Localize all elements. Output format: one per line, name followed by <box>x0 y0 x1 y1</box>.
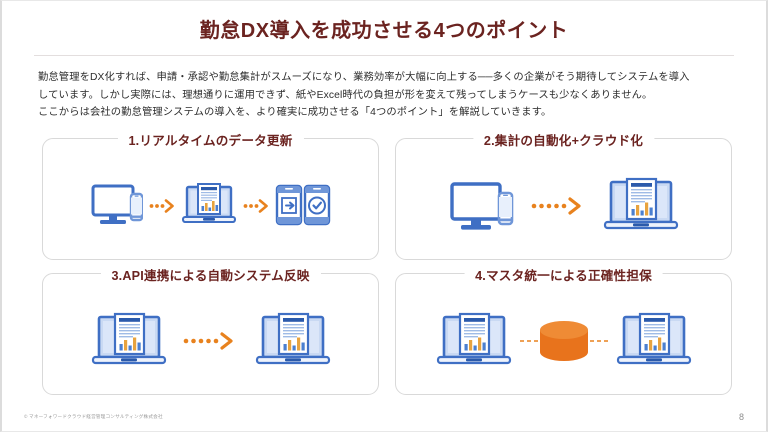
database-cylinder-icon <box>518 312 610 370</box>
title-divider <box>34 55 734 56</box>
point-card-1-title: 1.リアルタイムのデータ更新 <box>117 130 303 149</box>
point-card-1: 1.リアルタイムのデータ更新 <box>42 138 379 260</box>
smartphone-pair-icon <box>275 182 331 230</box>
point-card-2: 2.集計の自動化+クラウド化 <box>395 138 732 260</box>
smartphone-sync-icon <box>277 186 301 224</box>
point-card-4: 4.マスタ統一による正確性担保 <box>395 273 732 395</box>
smartphone-check-icon <box>305 186 329 224</box>
point-card-2-illustration <box>396 153 731 259</box>
slide-root: 勤怠DX導入を成功させる4つのポイント 勤怠管理をDX化すれば、申請・承認や勤怠… <box>0 0 768 432</box>
footer-page-number: 8 <box>739 412 744 422</box>
dotted-arrow-icon <box>149 197 175 215</box>
point-card-3-illustration <box>43 288 378 394</box>
page-title: 勤怠DX導入を成功させる4つのポイント <box>2 19 766 43</box>
lead-line-1: 勤怠管理をDX化すれば、申請・承認や勤怠集計がスムーズになり、業務効率が大幅に向… <box>38 69 730 87</box>
points-grid: 1.リアルタイムのデータ更新 <box>42 138 732 395</box>
laptop-report-icon <box>91 312 167 370</box>
dotted-arrow-long-icon <box>531 196 587 216</box>
point-card-2-title: 2.集計の自動化+クラウド化 <box>473 130 654 149</box>
laptop-report-icon <box>603 177 679 235</box>
lead-line-2: しています。しかし実際には、理想通りに運用できず、紙やExcel時代の負担が形を… <box>38 87 730 105</box>
lead-paragraph: 勤怠管理をDX化すれば、申請・承認や勤怠集計がスムーズになり、業務効率が大幅に向… <box>38 69 730 122</box>
point-card-3: 3.API連携による自動システム反映 <box>42 273 379 395</box>
point-card-4-title: 4.マスタ統一による正確性担保 <box>464 265 663 284</box>
footer-copyright: © マネーフォワードクラウド経営管理コンサルティング株式会社 <box>24 414 163 420</box>
desktop-monitor-icon <box>91 182 143 230</box>
laptop-report-icon <box>616 312 692 370</box>
desktop-monitor-icon <box>449 178 515 234</box>
point-card-4-illustration <box>396 288 731 394</box>
dotted-arrow-long-icon <box>183 331 239 351</box>
smartphone-icon <box>499 193 512 224</box>
point-card-3-title: 3.API連携による自動システム反映 <box>100 265 320 284</box>
laptop-report-icon <box>436 312 512 370</box>
laptop-report-icon <box>255 312 331 370</box>
lead-line-3: ここからは会社の勤怠管理システムの導入を、より確実に成功させる「4つのポイント」… <box>38 104 730 122</box>
laptop-report-icon <box>181 182 237 230</box>
dotted-arrow-icon <box>243 197 269 215</box>
smartphone-icon <box>131 194 142 220</box>
point-card-1-illustration <box>43 153 378 259</box>
